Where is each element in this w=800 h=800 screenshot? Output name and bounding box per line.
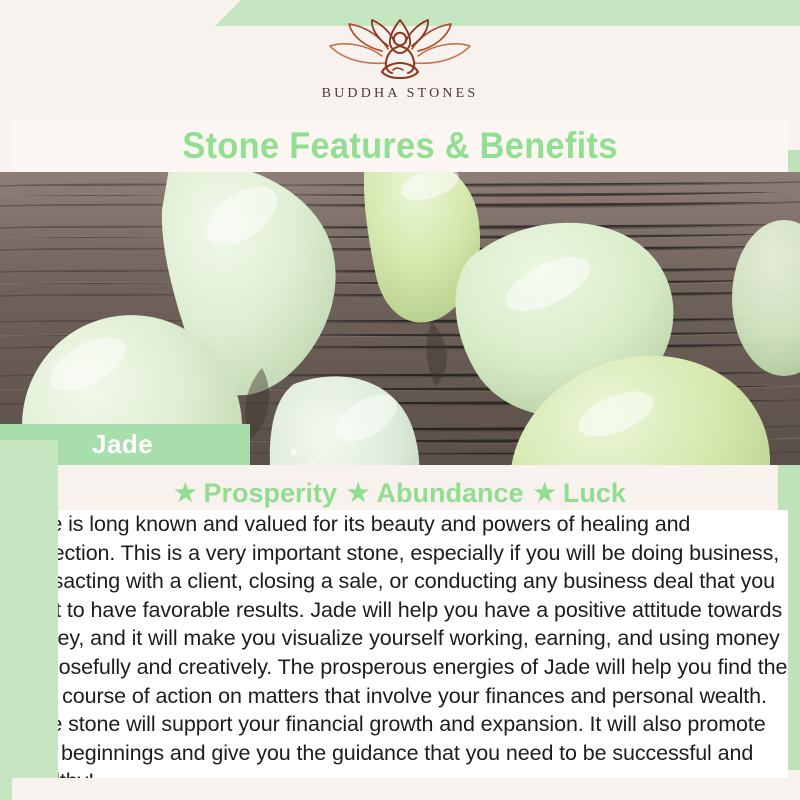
benefit-label: Luck <box>563 478 626 509</box>
brand-header: BUDDHA STONES <box>0 0 800 120</box>
decor-band-left-lower <box>0 440 58 800</box>
page-title: Stone Features & Benefits <box>182 125 617 167</box>
stone-photo <box>0 172 800 465</box>
brand-name: BUDDHA STONES <box>322 86 479 102</box>
title-banner: Stone Features & Benefits <box>12 120 788 172</box>
description-panel: Jade is long known and valued for its be… <box>12 510 788 778</box>
brand-logo: BUDDHA STONES <box>0 18 800 102</box>
bottom-spacer <box>12 778 788 800</box>
stone-photo-image <box>0 172 800 465</box>
benefit-item: ★ Abundance <box>347 478 523 509</box>
star-icon: ★ <box>347 481 369 506</box>
benefit-label: Prosperity <box>203 478 337 509</box>
stone-name-label: Jade <box>92 429 153 460</box>
lotus-meditation-icon <box>325 18 475 80</box>
benefit-label: Abundance <box>376 478 523 509</box>
benefit-item: ★ Luck <box>533 478 625 509</box>
star-icon: ★ <box>174 481 196 506</box>
benefit-item: ★ Prosperity <box>174 478 337 509</box>
benefits-row: ★ Prosperity ★ Abundance ★ Luck <box>0 478 800 509</box>
star-icon: ★ <box>533 481 555 506</box>
description-text: Jade is long known and valued for its be… <box>16 510 788 796</box>
poster-root: BUDDHA STONES Stone Features & Benefits <box>0 0 800 800</box>
